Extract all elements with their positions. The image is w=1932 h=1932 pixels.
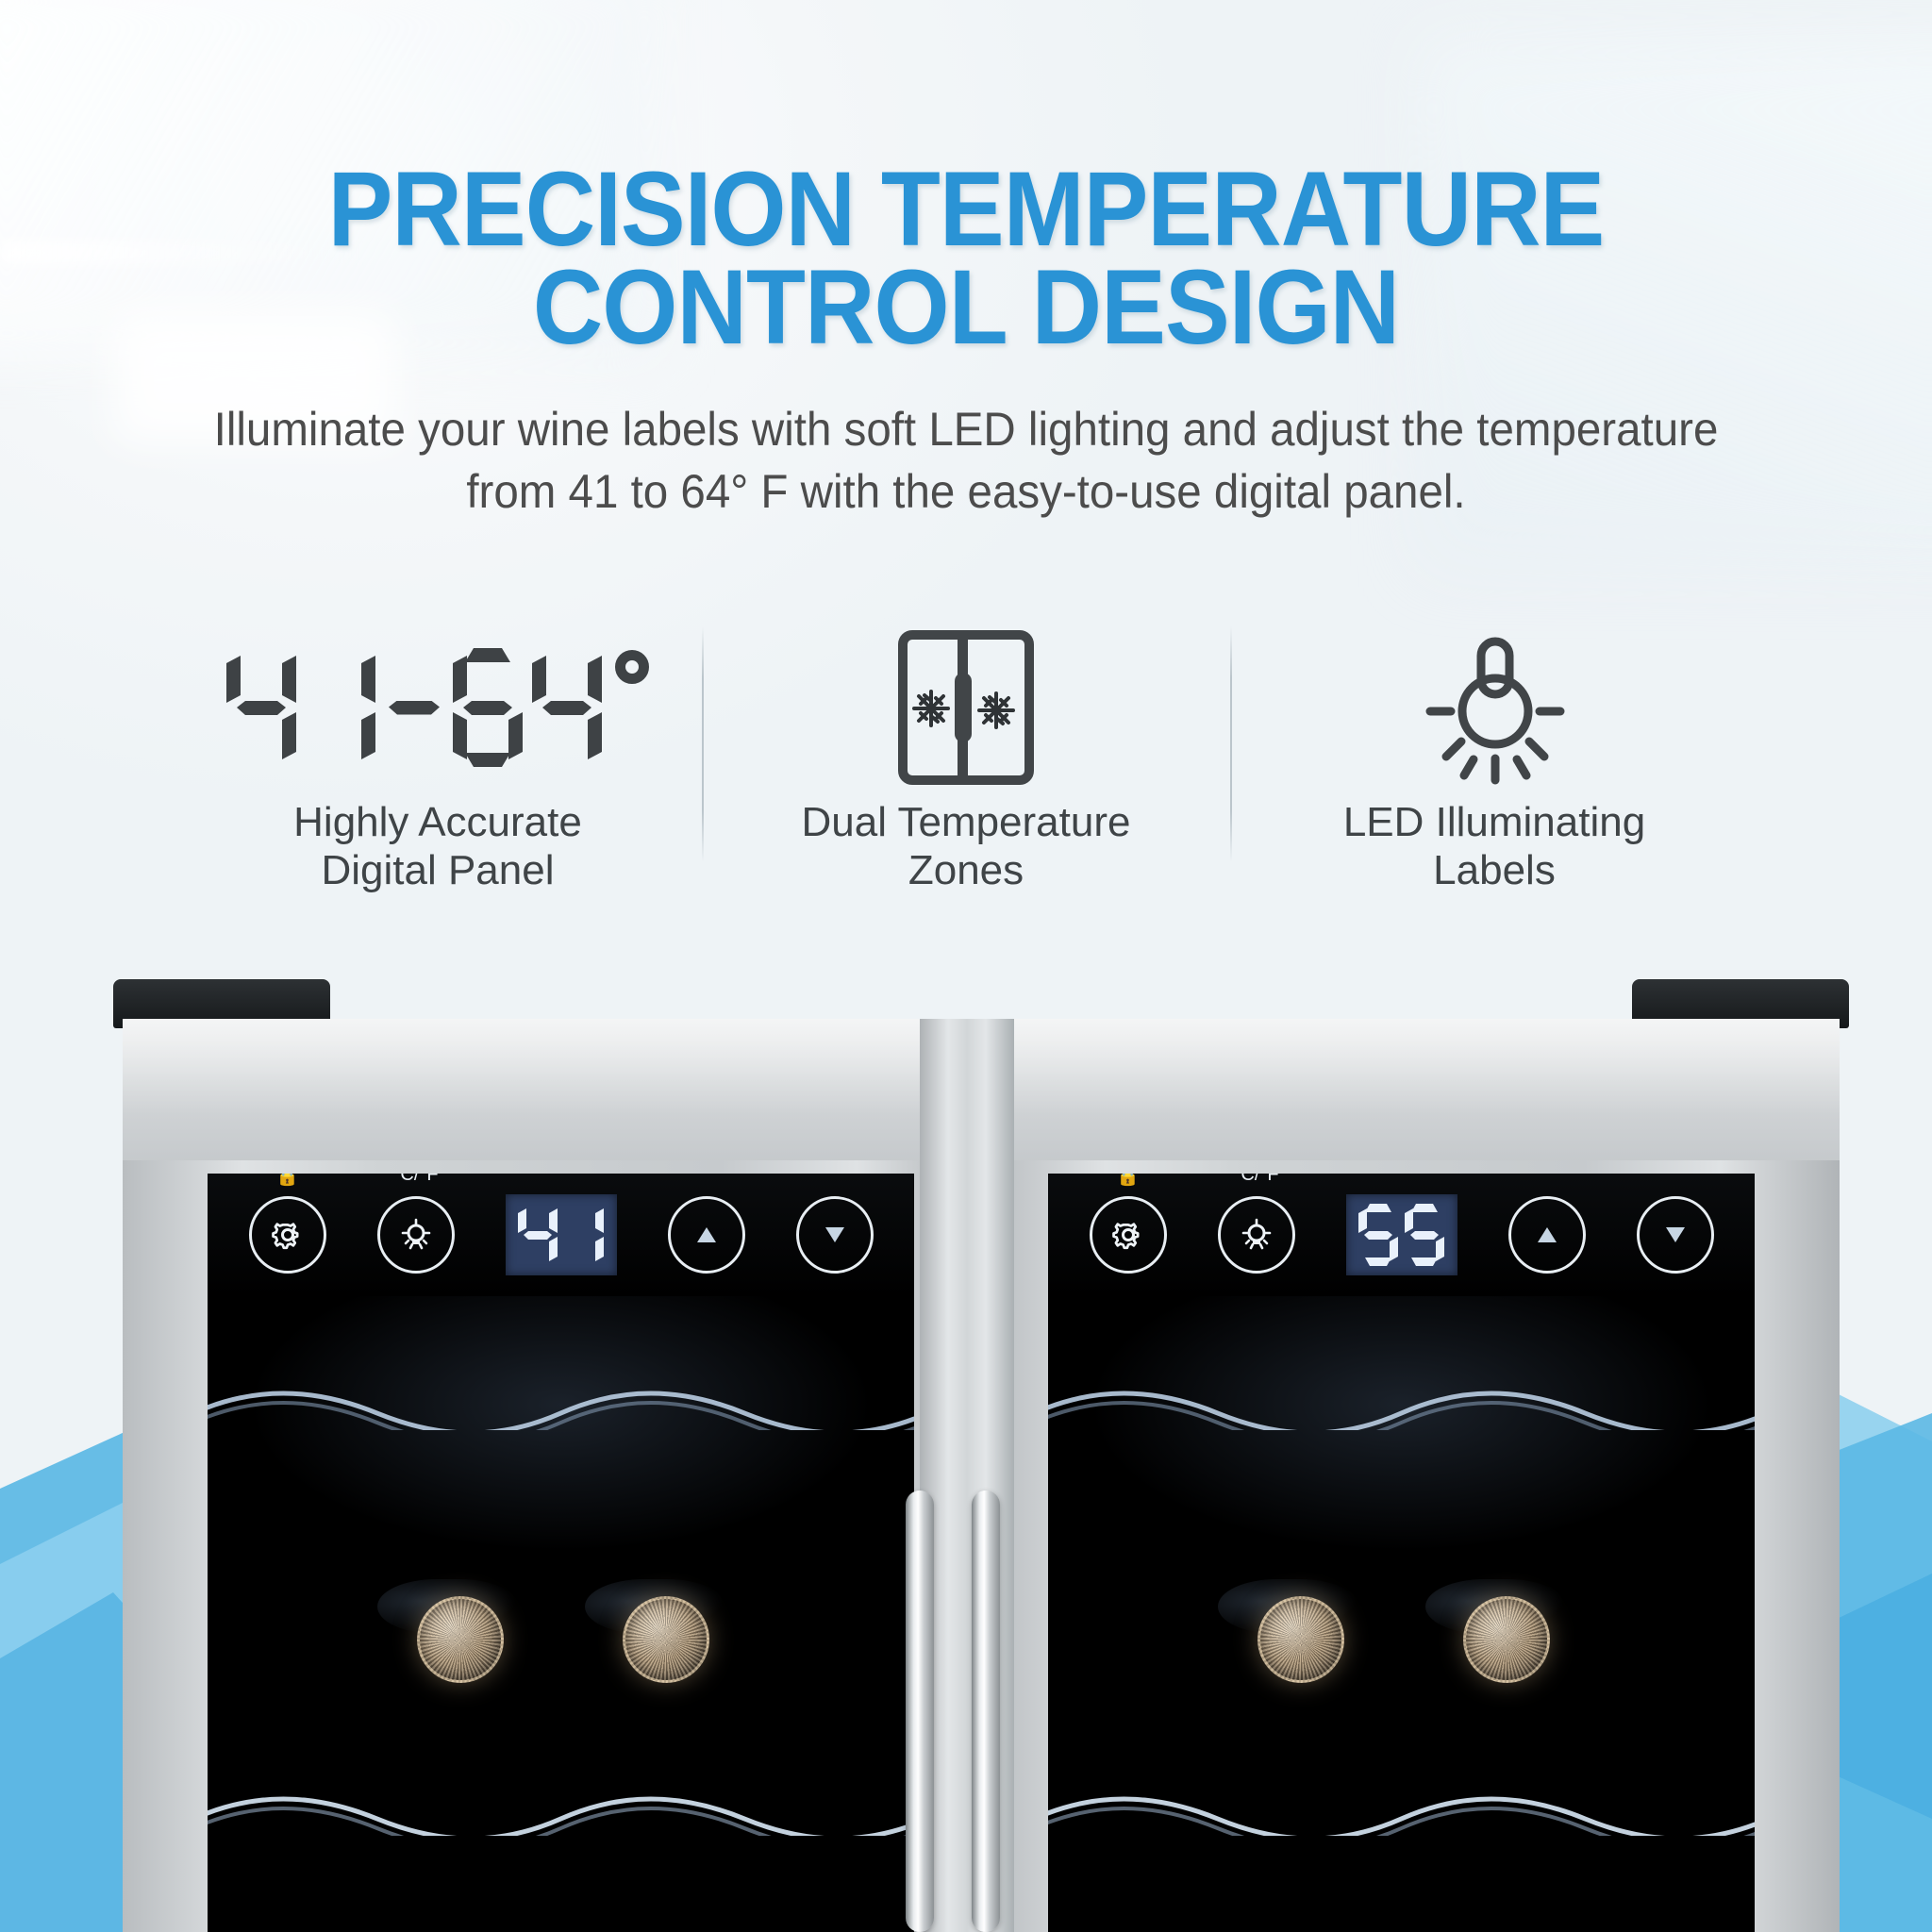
right-interior (1048, 1296, 1755, 1932)
up-arrow-icon (1531, 1219, 1563, 1251)
right-temp-down-button[interactable] (1637, 1196, 1714, 1274)
celsius-fahrenheit-label: °C/°F (392, 1174, 438, 1186)
range-dash (389, 701, 440, 715)
caption-line-2: Digital Panel (293, 846, 582, 894)
gear-icon (1107, 1213, 1150, 1257)
page-title: PRECISION TEMPERATURE CONTROL DESIGN (77, 160, 1855, 357)
wine-rack-shelf (1048, 1381, 1755, 1430)
caption-line-1: Dual Temperature (802, 798, 1131, 846)
seven-segment-temperature-range-icon (226, 623, 649, 792)
celsius-fahrenheit-label: °C/°F (1233, 1174, 1278, 1186)
wine-rack-shelf (208, 1381, 914, 1430)
subheadline-copy: Illuminate your wine labels with soft LE… (205, 398, 1728, 523)
left-temp-down-button[interactable] (796, 1196, 874, 1274)
left-wine-cooler-zone: 🔒 °C/°F (123, 1019, 976, 1932)
dual-door-fridge-snowflake-icon (895, 623, 1037, 792)
wine-rack-shelf (208, 1787, 914, 1836)
caption-line-1: Highly Accurate (293, 798, 582, 846)
left-cabinet-top-cap (123, 1019, 976, 1179)
right-control-panel[interactable]: 🔒 °C/°F (1048, 1174, 1755, 1296)
right-temp-digit-2 (1405, 1204, 1444, 1266)
feature-led-labels: LED Illuminating Labels (1230, 623, 1758, 894)
wine-bottle-cork (1463, 1596, 1550, 1683)
feature-dual-zones: Dual Temperature Zones (702, 623, 1230, 894)
light-bulb-rays-icon (1411, 623, 1577, 792)
down-arrow-icon (1659, 1219, 1691, 1251)
left-glass-door: 🔒 °C/°F (208, 1174, 914, 1932)
wine-rack-shelf (1048, 1787, 1755, 1836)
feature-digital-panel: Highly Accurate Digital Panel (174, 623, 702, 894)
right-door-handle[interactable] (972, 1491, 1000, 1932)
wine-bottle-cork (417, 1596, 504, 1683)
digit-4 (226, 648, 296, 767)
lock-icon: 🔒 (275, 1174, 299, 1188)
center-door-gap (920, 1019, 1014, 1932)
product-photo: 🔒 °C/°F (0, 962, 1932, 1932)
feature-caption-dual-zones: Dual Temperature Zones (802, 798, 1131, 894)
left-temp-up-button[interactable] (668, 1196, 745, 1274)
wine-bottle-cork (623, 1596, 709, 1683)
bulb-icon (1235, 1213, 1278, 1257)
right-temp-digit-1 (1358, 1204, 1398, 1266)
down-arrow-icon (819, 1219, 851, 1251)
right-glass-door: 🔒 °C/°F (1048, 1174, 1755, 1932)
left-interior (208, 1296, 914, 1932)
right-wine-cooler-zone: 🔒 °C/°F (986, 1019, 1840, 1932)
right-settings-button[interactable]: 🔒 (1090, 1196, 1167, 1274)
wine-bottle-cork (1257, 1596, 1344, 1683)
header-block: PRECISION TEMPERATURE CONTROL DESIGN Ill… (0, 0, 1932, 523)
left-door-handle[interactable] (906, 1491, 934, 1932)
digit-4b (532, 648, 602, 767)
caption-line-2: Zones (802, 846, 1131, 894)
bulb-icon (394, 1213, 438, 1257)
headline-line-2: CONTROL DESIGN (77, 258, 1855, 357)
right-light-button[interactable]: °C/°F (1218, 1196, 1295, 1274)
gear-icon (266, 1213, 309, 1257)
right-cabinet-top-cap (986, 1019, 1840, 1179)
feature-caption-led-labels: LED Illuminating Labels (1343, 798, 1645, 894)
left-temperature-display (506, 1194, 617, 1275)
feature-row: Highly Accurate Digital Panel (0, 623, 1932, 934)
left-light-button[interactable]: °C/°F (377, 1196, 455, 1274)
feature-caption-digital-panel: Highly Accurate Digital Panel (293, 798, 582, 894)
lock-icon: 🔒 (1116, 1174, 1140, 1188)
right-temperature-display (1346, 1194, 1457, 1275)
degree-symbol-icon (615, 650, 649, 684)
right-door-frame: 🔒 °C/°F (986, 1160, 1840, 1932)
left-settings-button[interactable]: 🔒 (249, 1196, 326, 1274)
right-temp-up-button[interactable] (1508, 1196, 1586, 1274)
left-temp-digit-2 (564, 1204, 604, 1266)
left-temp-digit-1 (518, 1204, 558, 1266)
up-arrow-icon (691, 1219, 723, 1251)
caption-line-1: LED Illuminating (1343, 798, 1645, 846)
digit-1 (306, 648, 375, 767)
caption-line-2: Labels (1343, 846, 1645, 894)
left-door-frame: 🔒 °C/°F (123, 1160, 976, 1932)
left-control-panel[interactable]: 🔒 °C/°F (208, 1174, 914, 1296)
digit-6 (453, 648, 523, 767)
